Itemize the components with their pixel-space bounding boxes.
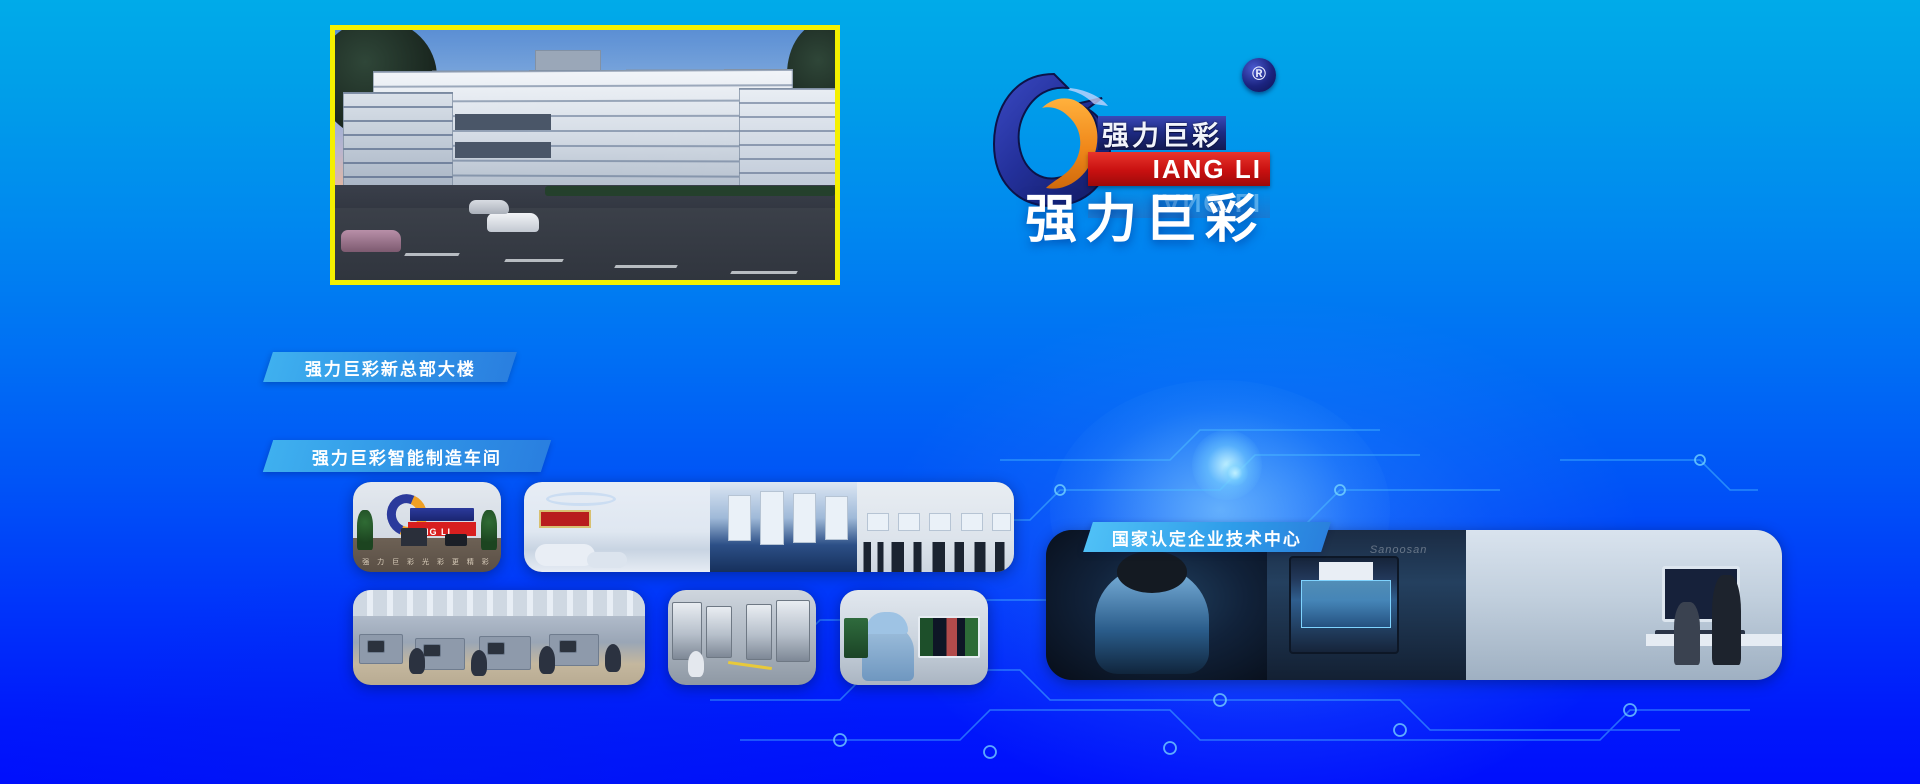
road-lane-marking [404,253,460,256]
office-employee [471,650,487,676]
label-tag-national-tech-center: 国家认定企业技术中心 [1083,522,1331,552]
photo-headquarters-building[interactable] [330,25,840,285]
lobby-plant-right [481,510,497,550]
showroom-atrium [524,482,710,572]
showroom-panel [825,496,849,539]
exhibit-screen [898,513,920,531]
rnd-microscope-scene [1046,530,1267,680]
road-surface [335,208,835,280]
office-employee [409,648,425,674]
test-pcb-rack [844,618,868,658]
rnd-inspection-machine [1289,556,1399,654]
hedge-row [545,186,835,196]
rnd-machine-label [1319,562,1373,580]
lobby-logo-cn-plate [410,508,474,521]
photo-lobby-inner: IANG LI 强 力 巨 彩 光 彩 更 精 彩 [353,482,501,572]
light-spark-core [1222,460,1248,486]
company-name-heading: 强力巨彩 [985,190,1305,250]
showroom-corridor [710,482,857,572]
smt-machine [776,600,810,662]
exhibit-screen [961,513,983,531]
showroom-ring-light [546,492,616,506]
skyline-silhouette-decoration [857,542,1014,572]
car-white [487,213,539,232]
showroom-panel [728,495,752,542]
rnd-lab-technician-seated [1674,602,1699,665]
building-left-wing [343,92,453,188]
exhibit-screen [929,513,951,531]
showroom-round-sofa [535,544,595,566]
test-monitor-screen [918,616,980,658]
rnd-engineer-head [1117,551,1188,593]
logo-chinese-badge: 强力巨彩 [1098,116,1226,150]
road-lane-marking [504,259,564,262]
office-employee [539,646,555,674]
rnd-lab-technician-standing [1712,575,1740,665]
photo-open-office[interactable] [353,590,645,685]
building-window-band-lower [455,142,551,158]
office-ceiling-lights [353,590,645,616]
smt-operator [688,651,704,677]
logo-red-bar: IANG LI [1088,152,1270,186]
lobby-reception-desk [401,528,427,546]
photo-office-inner [353,590,645,685]
photo-smt-inner [668,590,816,685]
photo-national-tech-center[interactable]: Sanoosan [1046,530,1782,680]
label-tag-headquarters: 强力巨彩新总部大楼 [263,352,517,382]
car-purple [341,230,401,252]
office-monitor [367,640,385,653]
lobby-plant-left [357,510,373,550]
office-monitor [487,642,505,655]
office-employee [605,644,621,672]
photo-test-station[interactable] [840,590,988,685]
road-lane-marking [614,265,678,268]
rnd-machine-window [1301,580,1391,628]
label-tag-national-tech-center-text: 国家认定企业技术中心 [1112,525,1302,550]
label-tag-smart-factory: 强力巨彩智能制造车间 [263,440,551,472]
banner-stage: 强力巨彩新总部大楼 强力巨彩智能制造车间 IANG LI 强 力 巨 彩 光 彩… [0,0,1920,784]
building-rooftop-unit [535,50,601,72]
rnd-watermark-text: Sanoosan [1370,544,1428,556]
photo-test-inner [840,590,988,685]
building-window-band-upper [455,114,551,130]
showroom-led-screen [539,510,591,528]
rnd-lab-scene [1466,530,1782,680]
car-silver [469,200,509,214]
exhibit-screen [992,513,1011,531]
office-monitor [559,640,577,653]
label-tag-smart-factory-text: 强力巨彩智能制造车间 [312,444,502,469]
lobby-motto-text: 强 力 巨 彩 光 彩 更 精 彩 [353,557,501,567]
exhibit-screen [867,513,889,531]
photo-showroom-inner [524,482,1014,572]
photo-lobby-reception[interactable]: IANG LI 强 力 巨 彩 光 彩 更 精 彩 [353,482,501,572]
label-tag-headquarters-text: 强力巨彩新总部大楼 [305,355,476,380]
road-lane-marking [730,271,798,274]
building-right-wing [739,88,839,188]
showroom-panel [793,493,817,543]
logo-latin-text: IANG LI [1153,154,1262,185]
photo-showroom-strip[interactable] [524,482,1014,572]
office-monitor [423,644,441,657]
smt-machine [746,604,772,660]
photo-smt-production-line[interactable] [668,590,816,685]
showroom-round-table [587,552,627,568]
showroom-panel [760,491,784,545]
photo-rnd-inner: Sanoosan [1046,530,1782,680]
registered-trademark-icon: ® [1242,58,1276,92]
lobby-wall-monitor [445,534,467,546]
smt-machine [706,606,732,658]
